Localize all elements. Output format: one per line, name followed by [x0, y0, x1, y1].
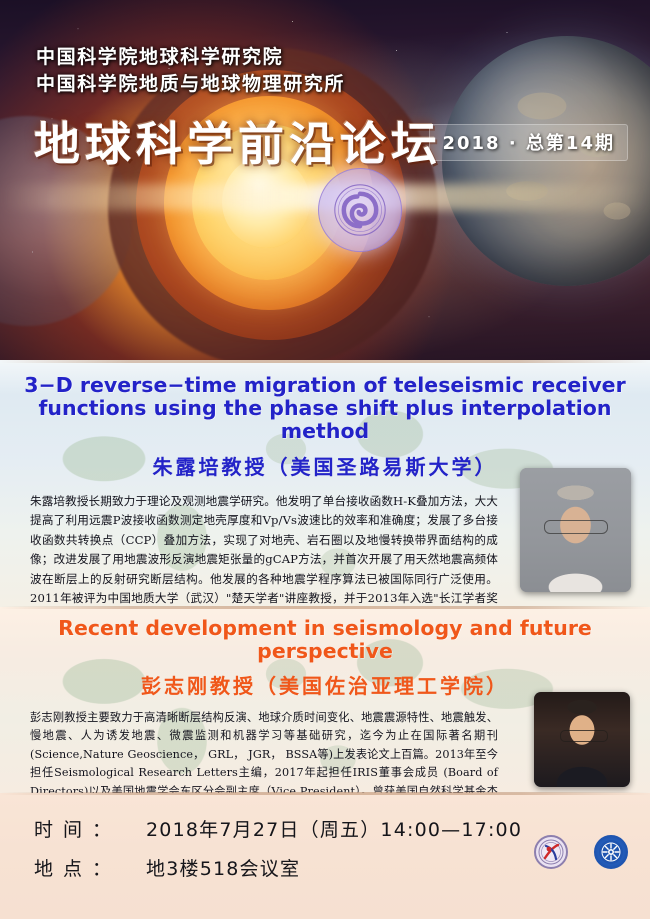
org-line-2: 中国科学院地质与地球物理研究所: [36, 71, 345, 98]
institute-seal-icon: [318, 168, 402, 252]
issue-badge: 2018 · 总第14期: [429, 124, 628, 161]
place-label: 地点：: [34, 854, 146, 881]
speaker-photo-peng-zhigang: [534, 692, 630, 787]
portrait-image-1: [520, 468, 631, 592]
talk-1-biography: 朱露培教授长期致力于理论及观测地震学研究。他发明了单台接收函数H-K叠加方法，大…: [30, 492, 498, 607]
section-divider-middle: [0, 606, 650, 609]
footer-logos: [534, 835, 628, 869]
section-divider-bottom: [0, 792, 650, 795]
portrait-image-2: [534, 692, 630, 787]
talk-section-2: Recent development in seismology and fut…: [0, 607, 650, 793]
talk-2-english-title: Recent development in seismology and fut…: [0, 617, 650, 663]
talk-2-biography: 彭志刚教授主要致力于高清晰断层结构反演、地球介质时间变化、地震震源特性、地震触发…: [30, 709, 498, 793]
organization-names: 中国科学院地球科学研究院 中国科学院地质与地球物理研究所: [36, 44, 345, 98]
iggcas-logo-icon: [534, 835, 568, 869]
time-value: 2018年7月27日（周五）14:00—17:00: [146, 815, 522, 842]
place-value: 地3楼518会议室: [146, 854, 300, 881]
time-label: 时间：: [34, 815, 146, 842]
speaker-photo-zhu-lupei: [520, 468, 631, 592]
talk-section-1: 3−D reverse−time migration of teleseismi…: [0, 360, 650, 607]
cas-logo-icon: [594, 835, 628, 869]
hero-banner: 中国科学院地球科学研究院 中国科学院地质与地球物理研究所 地球科学前沿论坛 20…: [0, 0, 650, 360]
talk-1-english-title: 3−D reverse−time migration of teleseismi…: [0, 374, 650, 443]
section-divider-top: [0, 360, 650, 363]
footer-info: 时间： 2018年7月27日（周五）14:00—17:00 地点： 地3楼518…: [0, 793, 650, 919]
poster-root: 中国科学院地球科学研究院 中国科学院地质与地球物理研究所 地球科学前沿论坛 20…: [0, 0, 650, 919]
org-line-1: 中国科学院地球科学研究院: [36, 44, 345, 71]
forum-title: 地球科学前沿论坛: [34, 108, 442, 174]
